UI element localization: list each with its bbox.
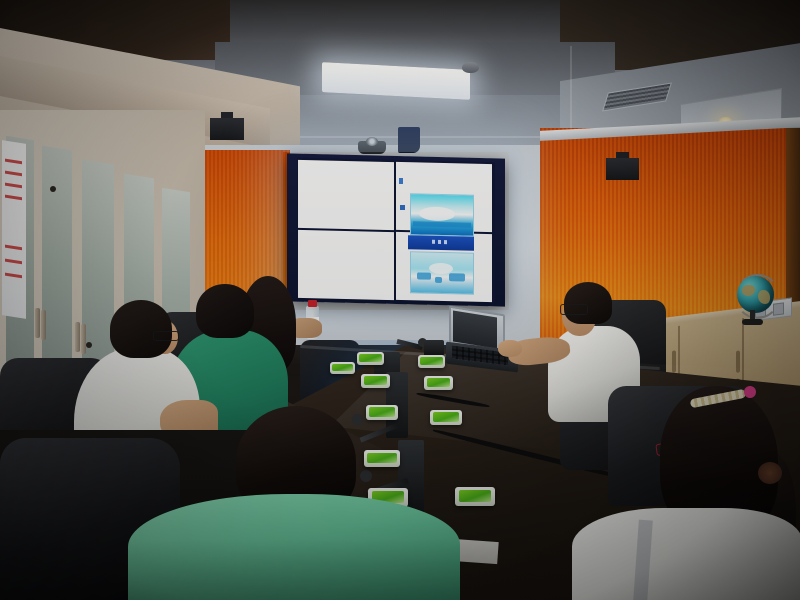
hair-scrunchie — [758, 462, 782, 484]
cabinet-lock-icon[interactable] — [50, 186, 56, 192]
table-dish[interactable] — [424, 376, 453, 390]
smoke-detector-icon — [462, 62, 479, 73]
microphone-head — [352, 414, 363, 425]
person-hair — [196, 284, 254, 338]
person-hair — [564, 282, 612, 324]
slide-title-text — [432, 240, 450, 244]
microphone-head — [360, 470, 372, 482]
globe-landmass — [758, 290, 770, 304]
hairband-clip — [744, 386, 756, 398]
slide-marker — [400, 205, 405, 210]
cabinet-handle[interactable] — [35, 308, 40, 338]
slide-image-bottom — [410, 251, 474, 295]
person-hand — [498, 340, 522, 357]
wall-speaker-left-icon — [210, 118, 244, 140]
wall-speaker-right-icon — [606, 158, 639, 180]
shirt-shading — [128, 540, 460, 600]
conference-microphone[interactable] — [424, 340, 444, 356]
person-hair — [110, 300, 172, 358]
cabinet-lock-icon[interactable] — [86, 342, 92, 348]
wall-poster — [2, 140, 26, 319]
table-dish[interactable] — [364, 450, 400, 467]
table-dish[interactable] — [357, 352, 384, 365]
cabinet-handle[interactable] — [75, 322, 80, 352]
table-dish[interactable] — [418, 355, 445, 368]
video-wall-panel-top-left — [298, 160, 394, 230]
table-dish[interactable] — [366, 405, 398, 420]
bottle-cap[interactable] — [308, 300, 317, 307]
video-wall-panel-bottom-left — [298, 230, 394, 300]
wall-speaker-center-icon — [398, 127, 420, 153]
camera-lens-icon — [366, 137, 378, 146]
glasses-icon — [153, 331, 179, 341]
conference-room-photo — [0, 0, 800, 600]
table-dish[interactable] — [430, 410, 462, 425]
globe-base — [742, 319, 763, 325]
slide-image-top — [410, 193, 474, 237]
cabinet-handle[interactable] — [41, 310, 46, 340]
person-blouse — [572, 508, 800, 600]
glasses-icon — [560, 304, 588, 315]
table-dish[interactable] — [361, 374, 390, 388]
slide-marker — [399, 178, 403, 184]
table-dish[interactable] — [455, 487, 495, 506]
cabinet-handle[interactable] — [81, 324, 86, 354]
table-dish[interactable] — [330, 362, 355, 374]
